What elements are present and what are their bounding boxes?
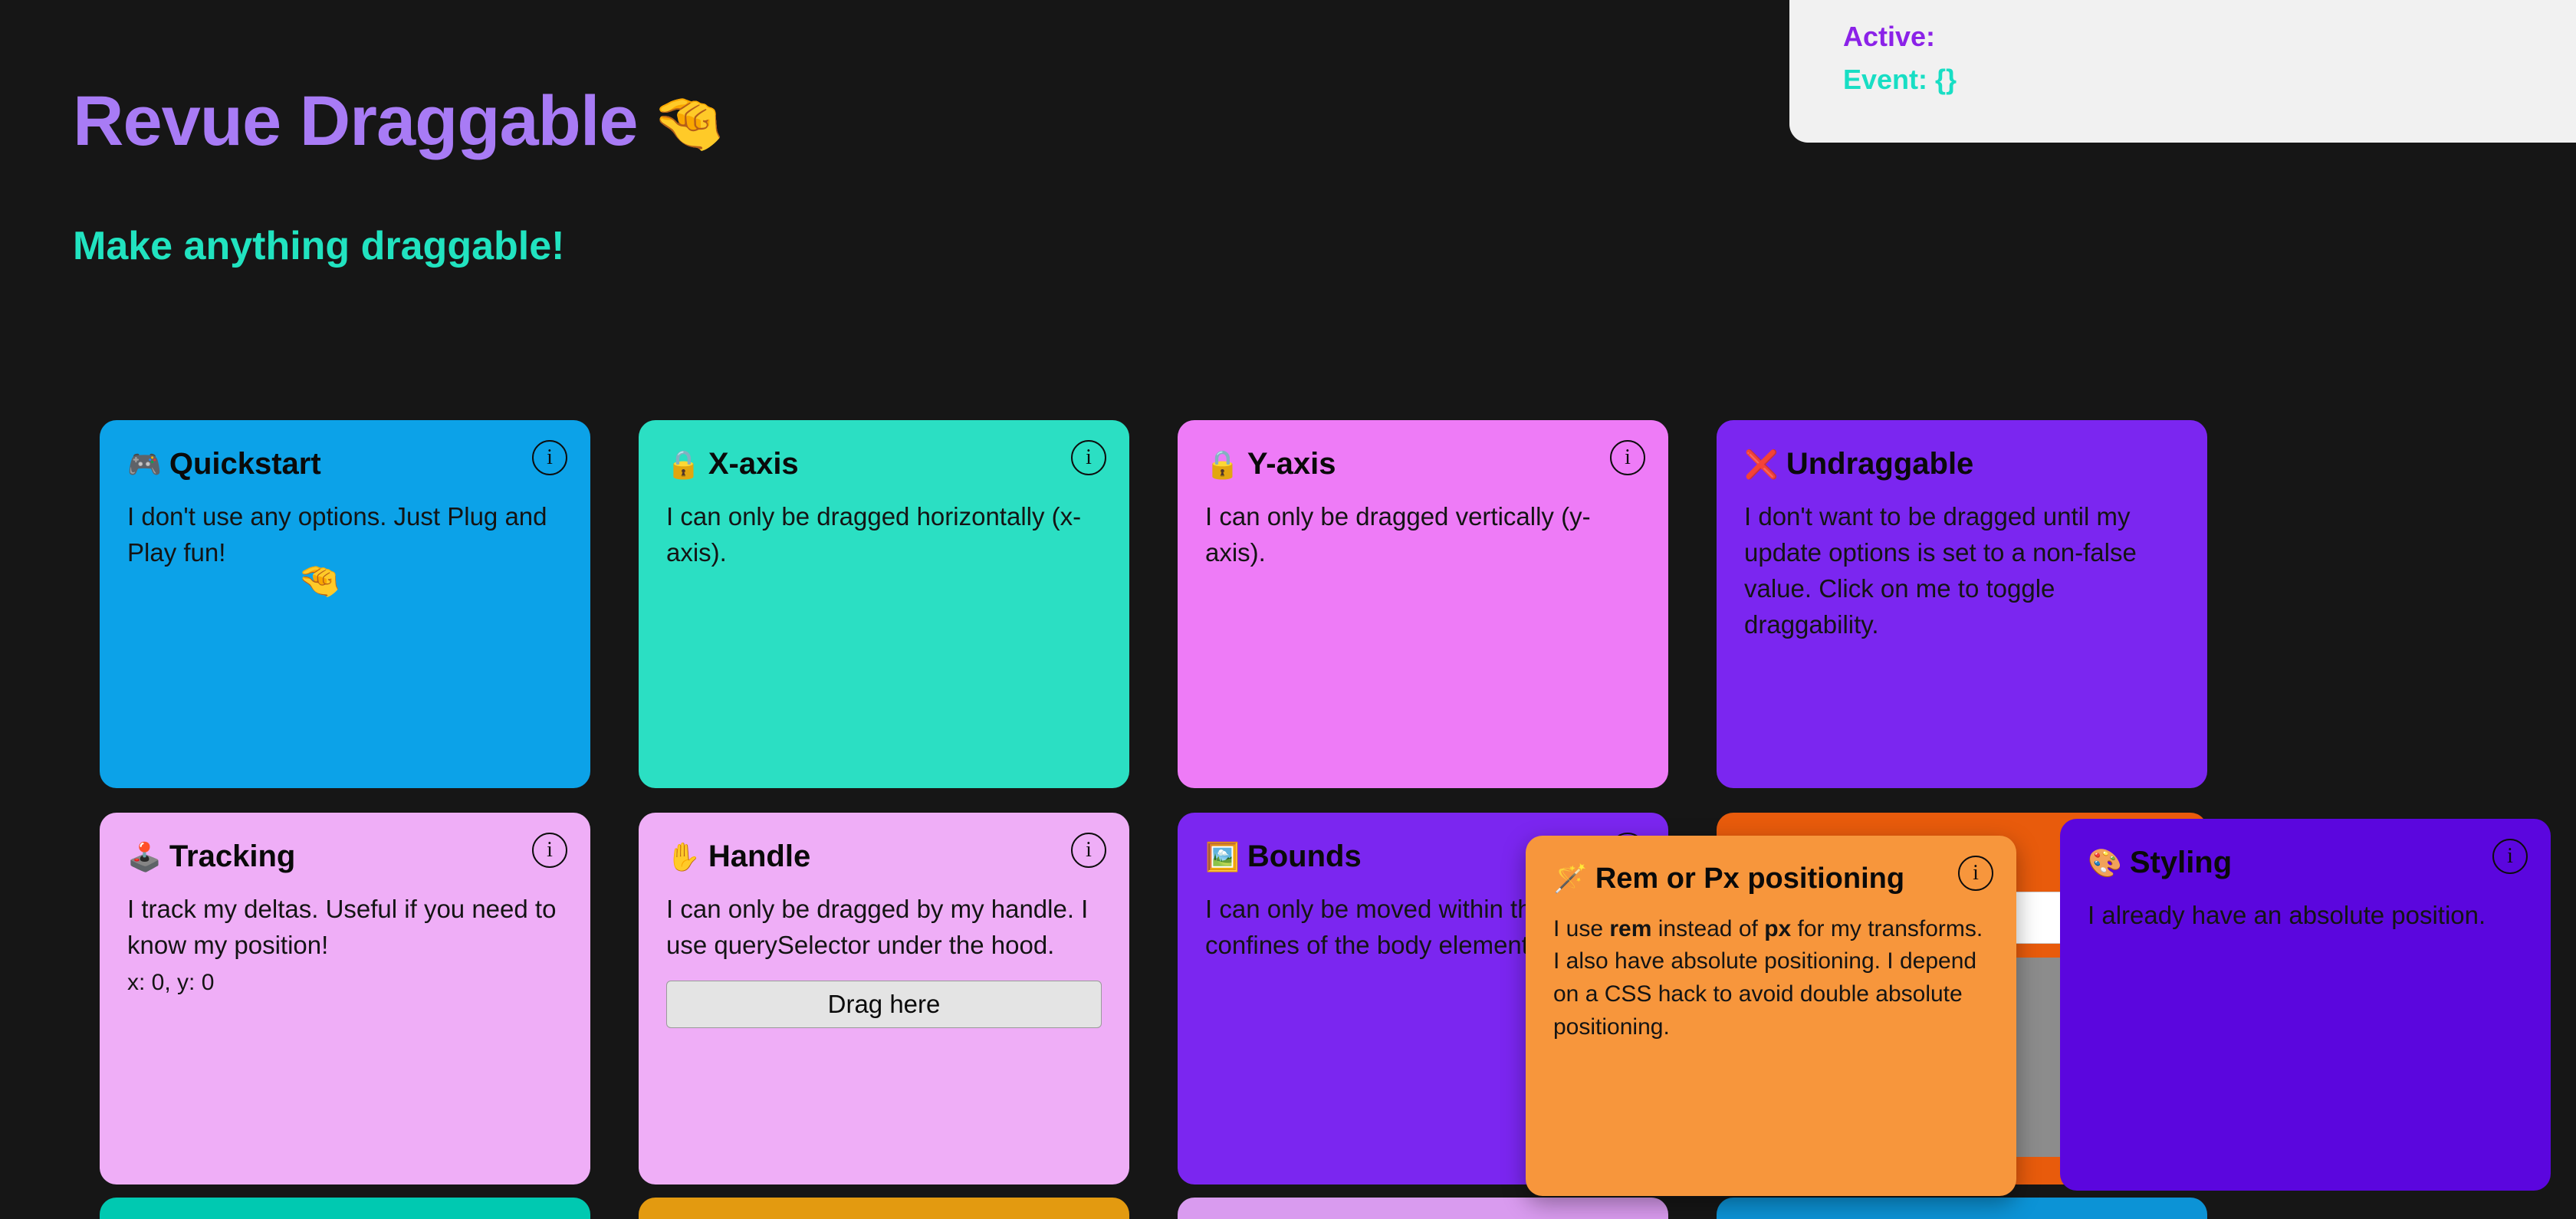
framed-picture-icon: 🖼️ [1205, 841, 1240, 872]
card-body: I already have an absolute position. [2088, 898, 2523, 934]
list-item[interactable] [1717, 1198, 2207, 1219]
status-active-label: Active: [1843, 15, 2576, 58]
card-title-text: Styling [2130, 846, 2232, 879]
pinch-hand-icon: 🤏 [297, 560, 341, 602]
list-item[interactable] [1178, 1198, 1668, 1219]
card-title: 🎮Quickstart [127, 446, 563, 482]
card-body: I don't want to be dragged until my upda… [1744, 499, 2180, 642]
card-title: ❌Undraggable [1744, 446, 2180, 482]
body-text-run: I use [1553, 916, 1609, 941]
card-body: I don't use any options. Just Plug and P… [127, 499, 563, 571]
card-title: 🪄Rem or Px positioning [1553, 862, 1989, 896]
info-icon[interactable]: i [2492, 839, 2528, 874]
card-body: I can only be dragged horizontally (x-ax… [666, 499, 1102, 571]
card-body: I track my deltas. Useful if you need to… [127, 892, 563, 964]
magic-wand-icon: 🪄 [1553, 863, 1588, 894]
card-title: 🎨Styling [2088, 845, 2523, 881]
page-root: Revue Draggable🤏 Make anything draggable… [0, 0, 2576, 1219]
card-title-text: Y-axis [1247, 447, 1336, 481]
info-icon[interactable]: i [1958, 856, 1993, 891]
tracking-coordinates: x: 0, y: 0 [127, 970, 563, 996]
info-icon[interactable]: i [532, 833, 567, 868]
page-subtitle: Make anything draggable! [73, 226, 564, 266]
page-title-text: Revue Draggable [73, 82, 638, 160]
info-icon[interactable]: i [1071, 833, 1106, 868]
card-title: ✋Handle [666, 839, 1102, 875]
lock-icon: 🔒 [666, 449, 701, 480]
card-quickstart[interactable]: i 🎮Quickstart I don't use any options. J… [100, 420, 590, 788]
info-icon[interactable]: i [1071, 440, 1106, 475]
card-title: 🕹️Tracking [127, 839, 563, 875]
drag-handle-button[interactable]: Drag here [666, 981, 1102, 1028]
cross-mark-icon: ❌ [1744, 449, 1779, 480]
card-title-text: X-axis [708, 447, 799, 481]
info-icon[interactable]: i [1610, 440, 1645, 475]
card-styling[interactable]: i 🎨Styling I already have an absolute po… [2060, 819, 2551, 1191]
body-text-run: instead of [1651, 916, 1764, 941]
card-title-text: Bounds [1247, 839, 1362, 873]
card-y-axis[interactable]: i 🔒Y-axis I can only be dragged vertical… [1178, 420, 1668, 788]
status-panel: Active: Event: {} [1789, 0, 2576, 143]
artist-palette-icon: 🎨 [2088, 847, 2122, 879]
card-body: I can only be dragged vertically (y-axis… [1205, 499, 1641, 571]
card-x-axis[interactable]: i 🔒X-axis I can only be dragged horizont… [639, 420, 1129, 788]
joystick-icon: 🕹️ [127, 841, 162, 872]
card-body: I can only be dragged by my handle. I us… [666, 892, 1102, 964]
card-tracking[interactable]: i 🕹️Tracking I track my deltas. Useful i… [100, 813, 590, 1184]
list-item[interactable] [639, 1198, 1129, 1219]
list-item[interactable] [100, 1198, 590, 1219]
card-title-text: Quickstart [169, 447, 321, 481]
lock-icon: 🔒 [1205, 449, 1240, 480]
card-title-text: Handle [708, 839, 810, 873]
raised-hand-icon: ✋ [666, 841, 701, 872]
card-handle[interactable]: i ✋Handle I can only be dragged by my ha… [639, 813, 1129, 1184]
info-icon[interactable]: i [532, 440, 567, 475]
card-title: 🔒Y-axis [1205, 446, 1641, 482]
card-rem-or-px[interactable]: i 🪄Rem or Px positioning I use rem inste… [1526, 836, 2016, 1196]
card-title-text: Tracking [169, 839, 296, 873]
card-title: 🔒X-axis [666, 446, 1102, 482]
game-controller-icon: 🎮 [127, 449, 162, 480]
emphasised-term: px [1764, 916, 1791, 941]
page-title: Revue Draggable🤏 [73, 86, 725, 156]
card-undraggable[interactable]: ❌Undraggable I don't want to be dragged … [1717, 420, 2207, 788]
card-body: I use rem instead of px for my transform… [1553, 913, 1989, 1043]
card-title-text: Undraggable [1786, 447, 1973, 481]
card-title-text: Rem or Px positioning [1595, 863, 1904, 895]
emphasised-term: rem [1609, 916, 1651, 941]
pinch-hand-icon: 🤏 [652, 89, 725, 156]
status-event-label: Event: {} [1843, 58, 2576, 101]
